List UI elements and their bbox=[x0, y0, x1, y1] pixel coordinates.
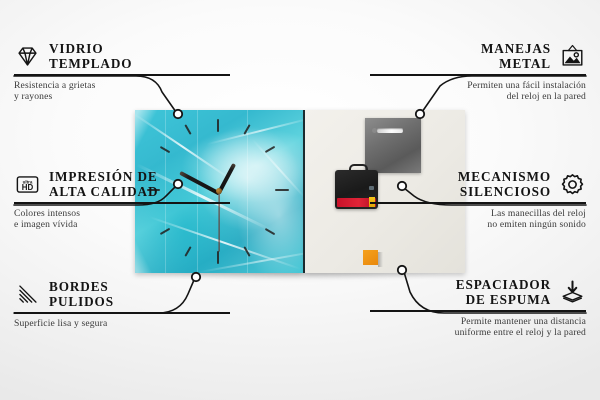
foam-spacer-icon bbox=[559, 279, 586, 306]
feature-subtitle: Las manecillas del relojno emiten ningún… bbox=[370, 208, 586, 231]
feature-tempered-glass: VIDRIOTEMPLADO Resistencia a grietasy ra… bbox=[14, 42, 230, 102]
feature-title: MANEJASMETAL bbox=[481, 42, 551, 71]
foam-spacer-pad bbox=[363, 250, 378, 265]
feature-subtitle: Colores intensose imagen vívida bbox=[14, 208, 230, 231]
feature-metal-hooks: MANEJASMETAL Permiten una fácil instalac… bbox=[370, 42, 586, 102]
feature-subtitle: Permiten una fácil instalacióndel reloj … bbox=[370, 80, 586, 103]
picture-hanger-icon bbox=[559, 43, 586, 70]
polished-edge-icon bbox=[14, 281, 41, 308]
feature-title: BORDESPULIDOS bbox=[49, 280, 114, 309]
feature-subtitle: Permite mantener una distanciauniforme e… bbox=[370, 316, 586, 339]
feature-title: VIDRIOTEMPLADO bbox=[49, 42, 132, 71]
feature-title: ESPACIADORDE ESPUMA bbox=[456, 278, 551, 307]
feature-hd-print: ultra HD IMPRESIÓN DEALTA CALIDAD Colore… bbox=[14, 170, 230, 230]
gear-icon bbox=[559, 171, 586, 198]
divider bbox=[370, 310, 586, 311]
feature-title: IMPRESIÓN DEALTA CALIDAD bbox=[49, 170, 158, 199]
feature-title: MECANISMOSILENCIOSO bbox=[458, 170, 551, 199]
svg-text:HD: HD bbox=[22, 183, 34, 192]
hanger-slot bbox=[377, 128, 403, 133]
divider bbox=[370, 202, 586, 203]
metal-hanger-plate bbox=[365, 118, 421, 173]
divider bbox=[14, 74, 230, 75]
feature-polished-edges: BORDESPULIDOS Superficie lisa y segura bbox=[14, 280, 230, 329]
ultra-hd-icon: ultra HD bbox=[14, 171, 41, 198]
divider bbox=[14, 312, 230, 313]
divider bbox=[370, 74, 586, 75]
feature-subtitle: Superficie lisa y segura bbox=[14, 318, 230, 329]
diamond-icon bbox=[14, 43, 41, 70]
feature-foam-spacer: ESPACIADORDE ESPUMA Permite mantener una… bbox=[370, 278, 586, 338]
feature-subtitle: Resistencia a grietasy rayones bbox=[14, 80, 230, 103]
feature-silent-mechanism: MECANISMOSILENCIOSO Las manecillas del r… bbox=[370, 170, 586, 230]
divider bbox=[14, 202, 230, 203]
infographic-canvas: VIDRIOTEMPLADO Resistencia a grietasy ra… bbox=[0, 0, 600, 400]
